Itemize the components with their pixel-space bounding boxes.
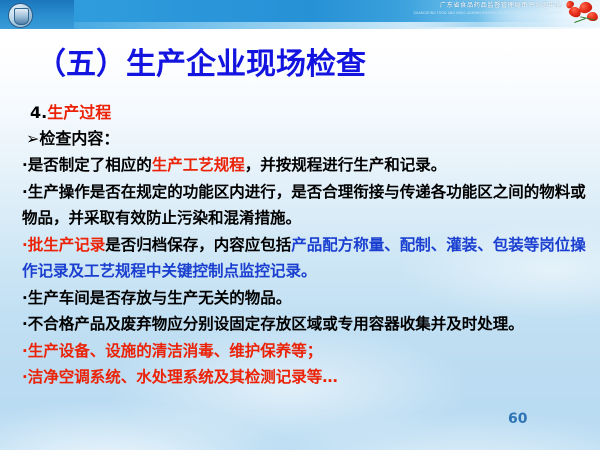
slide-title: （五）生产企业现场检查 xyxy=(36,46,366,84)
page-number: 60 xyxy=(508,411,527,427)
bullet-item: ·洁净空调系统、水处理系统及其检测记录等… xyxy=(22,364,588,391)
org-name-chinese: 广东省食品药品监督管理局审评认证中心 xyxy=(440,2,562,10)
bullet-text-segment: ，并按规程进行生产和记录。 xyxy=(245,156,447,174)
bullet-text-segment: 生产设备、设施的清洁消毒、维护保养等； xyxy=(28,342,323,360)
bullet-text-segment: 生产操作是否在规定的功能区内进行，是否合理衔接与传递各功能区之间的物料或物品，并… xyxy=(22,183,586,228)
bullet-text-segment: 是否制定了相应的 xyxy=(28,156,152,174)
section-heading-text: 生产过程 xyxy=(47,103,111,122)
slide-content: 4.生产过程 ➢检查内容： ·是否制定了相应的生产工艺规程，并按规程进行生产和记… xyxy=(22,99,588,391)
bullet-text-segment: 生产工艺规程 xyxy=(152,156,245,174)
bullet-item: ·生产车间是否存放与生产无关的物品。 xyxy=(22,285,588,312)
bullet-item: ·批生产记录是否归档保存，内容应包括产品配方称量、配制、灌装、包装等岗位操作记录… xyxy=(22,232,588,285)
bullet-item: ·是否制定了相应的生产工艺规程，并按规程进行生产和记录。 xyxy=(22,152,588,179)
flower-stem-icon xyxy=(574,18,586,23)
bullet-item: ·不合格产品及废弃物应分别设固定存放区域或专用容器收集并及时处理。 xyxy=(22,311,588,338)
agency-emblem-icon xyxy=(8,3,33,28)
bullet-item: ·生产设备、设施的清洁消毒、维护保养等； xyxy=(22,338,588,365)
bullet-text-segment: 批生产记录 xyxy=(28,236,106,254)
bullet-text-segment: 洁净空调系统、水处理系统及其检测记录等… xyxy=(28,368,338,386)
emblem-shield-icon xyxy=(14,8,29,25)
subsection-heading: ➢检查内容： xyxy=(22,126,588,152)
section-number: 4. xyxy=(30,103,47,122)
presentation-slide: 广东省食品药品监督管理局审评认证中心 GUANGDONG FOOD AND DR… xyxy=(0,0,600,450)
bullet-text-segment: 是否归档保存，内容应包括 xyxy=(105,236,291,254)
bullet-item: ·生产操作是否在规定的功能区内进行，是否合理衔接与传递各功能区之间的物料或物品，… xyxy=(22,179,588,232)
bullet-text-segment: 生产车间是否存放与生产无关的物品。 xyxy=(28,289,292,307)
section-heading: 4.生产过程 xyxy=(22,99,588,126)
org-name-english: GUANGDONG FOOD AND DRUG ADMINISTRATION C… xyxy=(413,11,562,16)
bullet-list: ·是否制定了相应的生产工艺规程，并按规程进行生产和记录。·生产操作是否在规定的功… xyxy=(22,152,588,391)
bullet-text-segment: 不合格产品及废弃物应分别设固定存放区域或专用容器收集并及时处理。 xyxy=(28,315,524,333)
arrow-bullet-icon: ➢ xyxy=(26,129,39,148)
subsection-heading-text: 检查内容： xyxy=(39,129,119,148)
